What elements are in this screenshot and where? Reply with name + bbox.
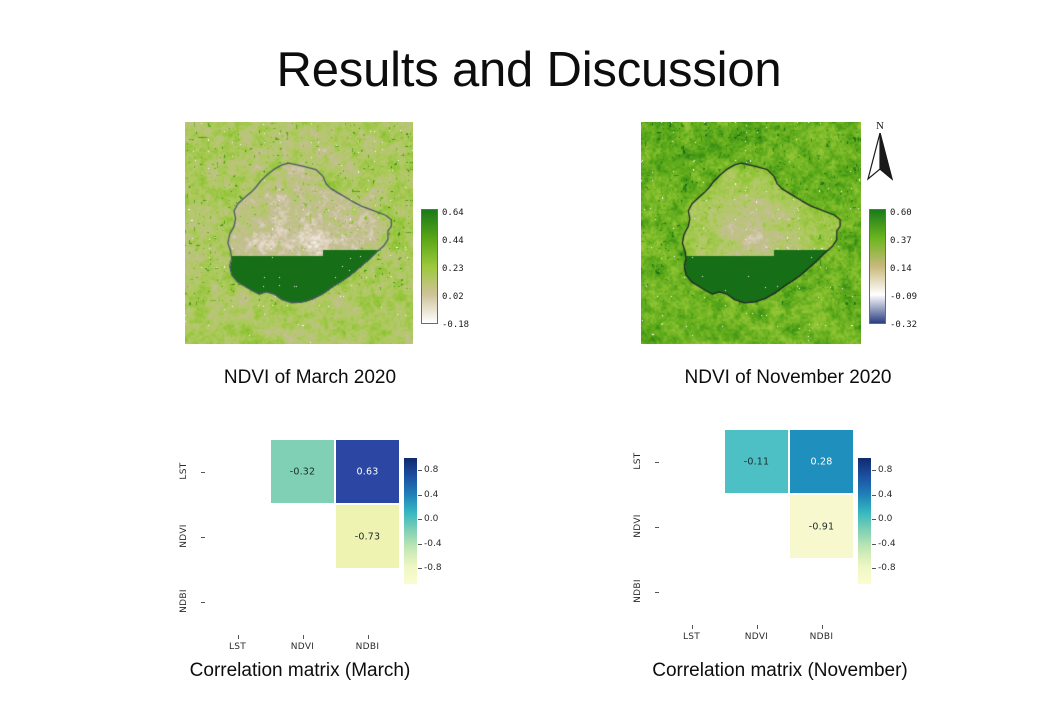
heatmap-cell: -0.73 — [335, 504, 400, 569]
heatmap-colorbar-tick-label: 0.8 — [878, 466, 892, 475]
heatmap-y-tick-mark — [201, 602, 205, 603]
heatmap-colorbar-tick-label: -0.4 — [424, 540, 442, 549]
heatmap-cell: 0.28 — [789, 429, 854, 494]
november-heatmap-colorbar-gradient — [858, 458, 871, 584]
march-colorbar-tick-1: 0.44 — [442, 237, 464, 246]
heatmap-x-tick-mark — [822, 625, 823, 629]
november-correlation-caption: Correlation matrix (November) — [560, 660, 1000, 682]
november-colorbar-tick-1: 0.37 — [890, 237, 912, 246]
heatmap-y-tick-mark — [201, 537, 205, 538]
march-colorbar-tick-3: 0.02 — [442, 293, 464, 302]
heatmap-colorbar-tick-mark — [418, 519, 422, 520]
heatmap-cell: -0.32 — [270, 439, 335, 504]
march-ndvi-caption: NDVI of March 2020 — [100, 367, 520, 389]
november-ndvi-figure: N 0.60 0.37 0.14 -0.09 -0.32 NDVI of Nov… — [558, 0, 1058, 400]
heatmap-colorbar-tick-mark — [872, 495, 876, 496]
heatmap-y-tick-mark — [655, 527, 659, 528]
march-heatmap-colorbar-gradient — [404, 458, 417, 584]
heatmap-x-tick-label: NDVI — [727, 632, 787, 642]
heatmap-cell: -0.11 — [724, 429, 789, 494]
heatmap-y-tick-label: NDBI — [633, 574, 643, 608]
heatmap-y-tick-label: LST — [179, 454, 189, 488]
heatmap-colorbar-tick-mark — [418, 544, 422, 545]
heatmap-x-tick-mark — [757, 625, 758, 629]
heatmap-colorbar-tick-label: -0.8 — [878, 564, 896, 573]
heatmap-x-tick-mark — [303, 635, 304, 639]
heatmap-colorbar-tick-mark — [872, 470, 876, 471]
november-ndvi-caption: NDVI of November 2020 — [568, 367, 1008, 389]
march-colorbar-tick-4: -0.18 — [442, 321, 469, 330]
november-correlation-figure: -0.110.28-0.91 LSTNDVINDBILSTNDVINDBI 0.… — [450, 420, 1010, 720]
march-ndvi-figure: 0.64 0.44 0.23 0.02 -0.18 NDVI of March … — [0, 0, 500, 400]
november-colorbar-gradient — [869, 209, 886, 324]
heatmap-cell-value: -0.11 — [725, 456, 788, 467]
heatmap-colorbar-tick-mark — [872, 544, 876, 545]
heatmap-x-tick-mark — [692, 625, 693, 629]
heatmap-y-tick-label: NDBI — [179, 584, 189, 618]
heatmap-y-tick-label: LST — [633, 444, 643, 478]
march-heatmap-grid: -0.320.63-0.73 — [205, 439, 400, 634]
heatmap-y-tick-label: NDVI — [633, 509, 643, 543]
march-correlation-figure: -0.320.63-0.73 LSTNDVINDBILSTNDVINDBI 0.… — [0, 420, 500, 720]
november-heatmap-grid: -0.110.28-0.91 — [659, 429, 854, 624]
north-arrow-label: N — [863, 120, 897, 132]
november-colorbar-tick-0: 0.60 — [890, 209, 912, 218]
heatmap-x-tick-mark — [238, 635, 239, 639]
heatmap-x-tick-label: NDBI — [792, 632, 852, 642]
heatmap-x-tick-label: LST — [662, 632, 722, 642]
march-colorbar-tick-0: 0.64 — [442, 209, 464, 218]
heatmap-y-tick-mark — [201, 472, 205, 473]
heatmap-colorbar-tick-mark — [872, 519, 876, 520]
november-ndvi-colorbar: 0.60 0.37 0.14 -0.09 -0.32 — [869, 209, 939, 334]
heatmap-colorbar-tick-label: -0.4 — [878, 540, 896, 549]
heatmap-cell: 0.63 — [335, 439, 400, 504]
heatmap-colorbar-tick-mark — [418, 568, 422, 569]
heatmap-cell: -0.91 — [789, 494, 854, 559]
heatmap-x-tick-label: NDBI — [338, 642, 398, 652]
heatmap-colorbar-tick-mark — [872, 568, 876, 569]
november-colorbar-tick-2: 0.14 — [890, 265, 912, 274]
march-colorbar-gradient — [421, 209, 438, 324]
heatmap-y-tick-mark — [655, 462, 659, 463]
heatmap-cell-value: -0.73 — [336, 531, 399, 542]
heatmap-colorbar-tick-label: 0.0 — [424, 515, 438, 524]
heatmap-cell-value: 0.63 — [336, 466, 399, 477]
march-ndvi-colorbar: 0.64 0.44 0.23 0.02 -0.18 — [421, 209, 491, 334]
heatmap-x-tick-label: LST — [208, 642, 268, 652]
heatmap-colorbar-tick-label: 0.8 — [424, 466, 438, 475]
march-colorbar-tick-2: 0.23 — [442, 265, 464, 274]
heatmap-y-tick-label: NDVI — [179, 519, 189, 553]
heatmap-x-tick-mark — [368, 635, 369, 639]
heatmap-colorbar-tick-label: 0.4 — [424, 491, 438, 500]
november-heatmap-colorbar: 0.80.40.0-0.4-0.8 — [858, 458, 918, 598]
november-colorbar-tick-3: -0.09 — [890, 293, 917, 302]
heatmap-x-tick-label: NDVI — [273, 642, 333, 652]
north-arrow-icon: N — [863, 120, 897, 182]
heatmap-colorbar-tick-label: -0.8 — [424, 564, 442, 573]
november-ndvi-map-image — [641, 122, 861, 344]
heatmap-cell-value: 0.28 — [790, 456, 853, 467]
heatmap-colorbar-tick-mark — [418, 495, 422, 496]
march-ndvi-map-image — [185, 122, 413, 344]
november-colorbar-tick-4: -0.32 — [890, 321, 917, 330]
heatmap-colorbar-tick-label: 0.4 — [878, 491, 892, 500]
heatmap-colorbar-tick-mark — [418, 470, 422, 471]
heatmap-cell-value: -0.32 — [271, 466, 334, 477]
heatmap-y-tick-mark — [655, 592, 659, 593]
heatmap-cell-value: -0.91 — [790, 521, 853, 532]
heatmap-colorbar-tick-label: 0.0 — [878, 515, 892, 524]
